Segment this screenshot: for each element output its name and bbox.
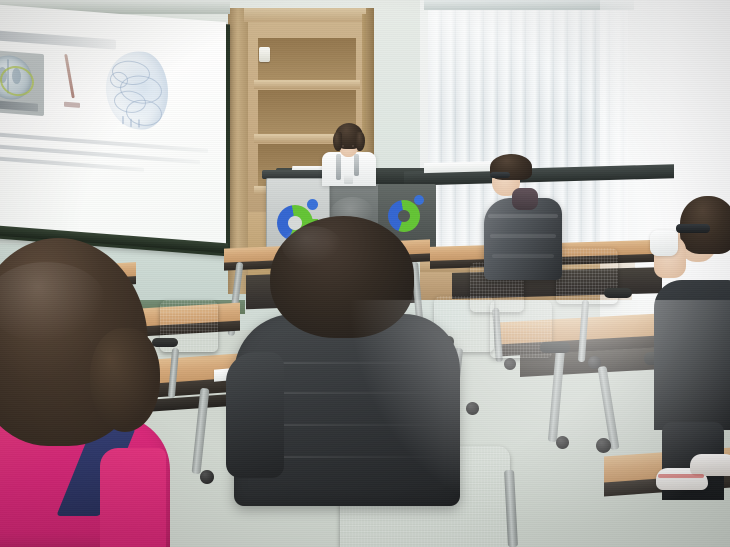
attendee-pink-jacket-shoulder <box>100 448 166 547</box>
attendee-center-arm-left <box>226 352 284 478</box>
attendee-far-right-glasses <box>676 224 710 233</box>
brain-stem-mark-2 <box>130 119 132 127</box>
presenter-hair-side-left <box>333 132 342 151</box>
attendee-right-jacket <box>484 198 562 280</box>
presenter-lanyard-left <box>336 154 341 180</box>
brain-stem-mark-3 <box>138 119 140 127</box>
attendee-right-jacket-seam-2 <box>490 234 556 238</box>
slide-body-line-3 <box>0 156 144 172</box>
attendee-right-glasses <box>490 172 510 178</box>
presenter-at-podium <box>318 118 378 180</box>
slide-needle-label <box>64 102 80 108</box>
slide-brain-diagram <box>106 49 168 132</box>
brain-gyrus-5 <box>110 71 128 88</box>
presenter-eye-right <box>352 145 354 147</box>
presenter-eye-left <box>342 145 344 147</box>
shelf-void-1 <box>258 38 356 82</box>
attendee-right-jacket-seam-1 <box>488 214 558 218</box>
slide-title-text <box>0 30 116 49</box>
shelf-1 <box>254 80 360 89</box>
floor-light-sheen <box>330 300 730 547</box>
logo-dot-right <box>414 195 424 205</box>
slide-needle-illustration <box>64 54 75 98</box>
logo-dot-left <box>307 199 318 210</box>
attendee-far-right-tissue[interactable] <box>650 230 678 256</box>
attendee-right-jacket-seam-3 <box>492 254 554 258</box>
table-caster-center-foreground <box>200 470 214 484</box>
cabinet-top-rail <box>244 8 370 22</box>
presenter-lanyard-right <box>354 154 359 176</box>
attendee-center-hair-highlight <box>282 226 342 266</box>
light-switch[interactable] <box>259 47 270 62</box>
presenter-hair-side-right <box>356 132 365 151</box>
projector-screen-surface[interactable] <box>0 4 226 244</box>
attendee-pink-jacket <box>0 238 200 547</box>
attendee-pink-hair-lock <box>90 328 160 432</box>
brain-stem-mark-1 <box>122 116 124 124</box>
attendee-dark-puffy-jacket <box>466 152 566 278</box>
photograph-lecture-room <box>0 0 730 547</box>
presenter-id-badge <box>344 174 353 184</box>
attendee-right-collar <box>512 188 538 210</box>
